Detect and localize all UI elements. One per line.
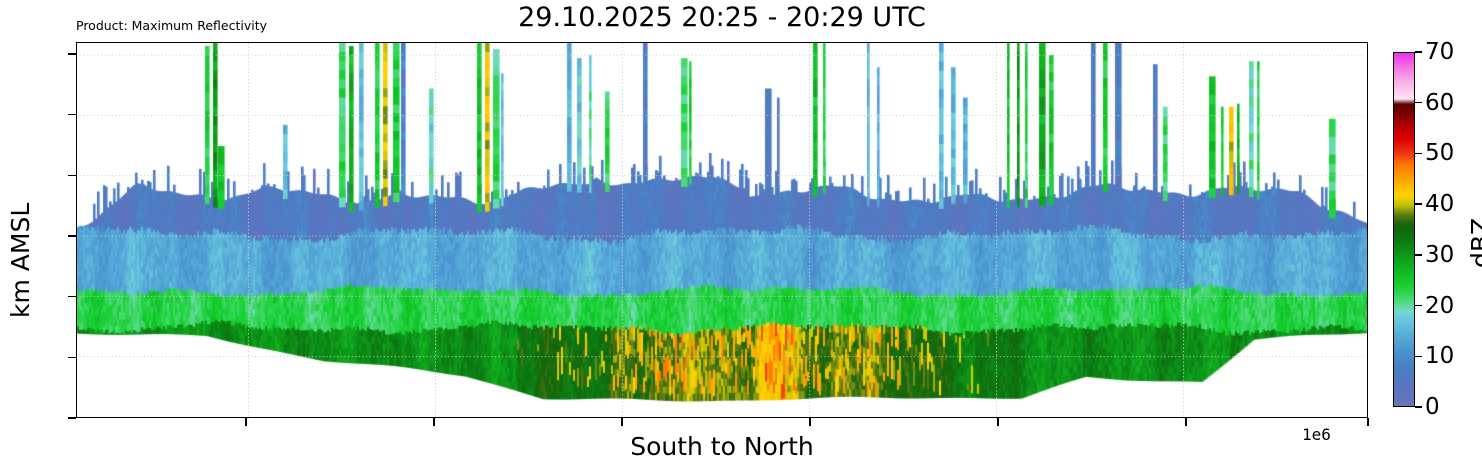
colorbar-label: dBZ xyxy=(1466,218,1482,268)
product-annotation: Product: Maximum Reflectivity xyxy=(76,18,267,33)
plot-area xyxy=(76,42,1368,418)
colorbar-tick-mark xyxy=(1415,51,1422,52)
y-tick-mark xyxy=(68,296,76,297)
page-title: 29.10.2025 20:25 - 20:29 UTC xyxy=(76,2,1368,33)
colorbar-tick-mark xyxy=(1415,406,1422,407)
colorbar-tick-label: 70 xyxy=(1425,39,1454,65)
colorbar-tick-mark xyxy=(1415,102,1422,103)
reflectivity-heatmap xyxy=(77,43,1368,418)
x-tick-mark xyxy=(809,418,810,426)
x-axis-offset-text: 1e6 xyxy=(1302,425,1331,444)
colorbar-tick-mark xyxy=(1415,203,1422,204)
x-tick-mark xyxy=(1185,418,1186,426)
y-tick-mark xyxy=(68,53,76,54)
y-tick-mark xyxy=(68,114,76,115)
x-tick-mark xyxy=(433,418,434,426)
x-axis-label: South to North xyxy=(76,432,1368,461)
colorbar-tick-mark xyxy=(1415,356,1422,357)
y-axis-label: km AMSL xyxy=(6,203,35,318)
colorbar-tick-label: 0 xyxy=(1425,394,1440,420)
x-tick-mark xyxy=(1367,418,1368,426)
y-tick-mark xyxy=(68,235,76,236)
x-tick-mark xyxy=(245,418,246,426)
colorbar-tick-label: 10 xyxy=(1425,343,1454,369)
colorbar-tick-label: 60 xyxy=(1425,90,1454,116)
radar-cross-section-figure: 29.10.2025 20:25 - 20:29 UTC Product: Ma… xyxy=(0,0,1482,470)
colorbar-tick-label: 50 xyxy=(1425,140,1454,166)
x-tick-mark xyxy=(997,418,998,426)
colorbar-tick-mark xyxy=(1415,305,1422,306)
colorbar-tick-label: 30 xyxy=(1425,242,1454,268)
colorbar-gradient xyxy=(1394,53,1415,407)
colorbar xyxy=(1393,52,1415,407)
y-tick-mark xyxy=(68,417,76,418)
colorbar-tick-mark xyxy=(1415,153,1422,154)
y-tick-mark xyxy=(68,357,76,358)
y-tick-mark xyxy=(68,175,76,176)
x-tick-mark xyxy=(621,418,622,426)
colorbar-tick-label: 40 xyxy=(1425,191,1454,217)
colorbar-tick-label: 20 xyxy=(1425,293,1454,319)
colorbar-tick-mark xyxy=(1415,254,1422,255)
